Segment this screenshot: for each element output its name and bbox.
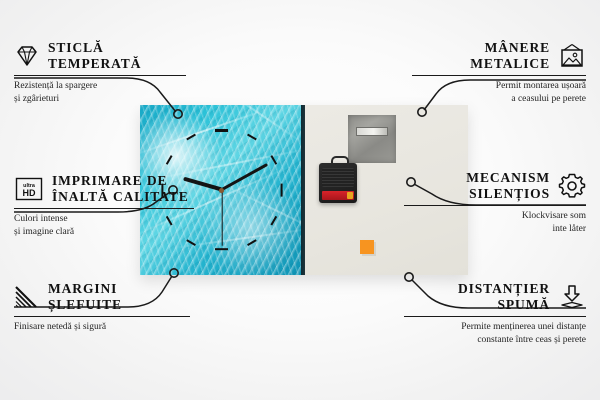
callout-title-line2: METALICE <box>470 56 550 72</box>
hanger-slot <box>356 127 388 136</box>
callout-subtitle-line2: și imagine clară <box>14 226 194 239</box>
clock-tick <box>215 129 228 131</box>
callout-title-line1: MÂNERE <box>470 40 550 56</box>
callout-subtitle-line1: Culori intense <box>14 213 194 226</box>
callout-subtitle-line2: și zgârieturi <box>14 93 186 106</box>
battery <box>322 191 354 200</box>
diagonal-lines-icon <box>14 285 40 309</box>
callout-title-line1: DISTANȚIER <box>458 281 550 297</box>
metal-hanger-bracket <box>348 115 396 163</box>
callout-hd-print: ultra HD IMPRIMARE DE ÎNALTĂ CALITATE Cu… <box>14 173 194 238</box>
infographic-canvas: STICLĂ TEMPERATĂ Rezistență la spargere … <box>0 0 600 400</box>
clock-second-hand <box>221 190 222 246</box>
down-arrow-stack-icon <box>558 284 586 310</box>
callout-rule <box>404 316 586 317</box>
callout-subtitle-line2: inte låter <box>404 223 586 236</box>
callout-subtitle-line1: Finisare netedă și sigură <box>14 321 190 334</box>
callout-title-line2: TEMPERATĂ <box>48 56 141 72</box>
callout-tempered-glass: STICLĂ TEMPERATĂ Rezistență la spargere … <box>14 40 186 105</box>
callout-title-line1: STICLĂ <box>48 40 141 56</box>
clock-tick <box>280 183 282 196</box>
callout-subtitle-line1: Klockvisare som <box>404 210 586 223</box>
callout-rule <box>14 208 194 209</box>
mechanism-ridges <box>322 168 354 187</box>
callout-subtitle-line2: a ceasului pe perete <box>412 93 586 106</box>
callout-subtitle-line1: Permite menținerea unei distanțe <box>404 321 586 334</box>
gear-icon <box>558 172 586 200</box>
callout-title-line1: MECANISM <box>466 170 550 186</box>
callout-rule <box>412 75 586 76</box>
callout-title-line2: SILENȚIOS <box>466 186 550 202</box>
callout-rule <box>14 316 190 317</box>
clock-tick <box>165 155 171 164</box>
callout-subtitle-line1: Permit montarea ușoară <box>412 80 586 93</box>
battery-plus-terminal <box>347 192 353 199</box>
quartz-mechanism <box>319 163 357 203</box>
callout-rule <box>14 75 186 76</box>
callout-silent-mechanism: MECANISM SILENȚIOS Klockvisare som inte … <box>404 170 586 235</box>
clock-tick <box>247 134 256 140</box>
diamond-icon <box>14 44 40 68</box>
callout-title-line2: SPUMĂ <box>458 297 550 313</box>
clock-tick <box>271 216 277 225</box>
callout-title-line1: IMPRIMARE DE <box>52 173 189 189</box>
callout-subtitle-line1: Rezistență la spargere <box>14 80 186 93</box>
clock-tick <box>247 240 256 246</box>
mechanism-hanging-loop <box>331 156 349 167</box>
callout-subtitle-line2: constante între ceas și perete <box>404 334 586 347</box>
callout-foam-spacer: DISTANȚIER SPUMĂ Permite menținerea unei… <box>404 281 586 346</box>
callout-rule <box>404 205 586 206</box>
callout-title-line2: ÎNALTĂ CALITATE <box>52 189 189 205</box>
foam-spacer-square <box>360 240 374 254</box>
svg-text:HD: HD <box>23 188 36 198</box>
ultra-hd-icon: ultra HD <box>14 176 44 202</box>
callout-title-line2: ȘLEFUITE <box>48 297 122 313</box>
callout-metal-handles: MÂNERE METALICE Permit montarea ușoară a… <box>412 40 586 105</box>
picture-frame-hanging-icon <box>558 43 586 69</box>
callout-polished-edges: MARGINI ȘLEFUITE Finisare netedă și sigu… <box>14 281 190 334</box>
clock-center-cap <box>219 188 224 193</box>
clock-tick <box>215 248 228 250</box>
callout-title-line1: MARGINI <box>48 281 122 297</box>
